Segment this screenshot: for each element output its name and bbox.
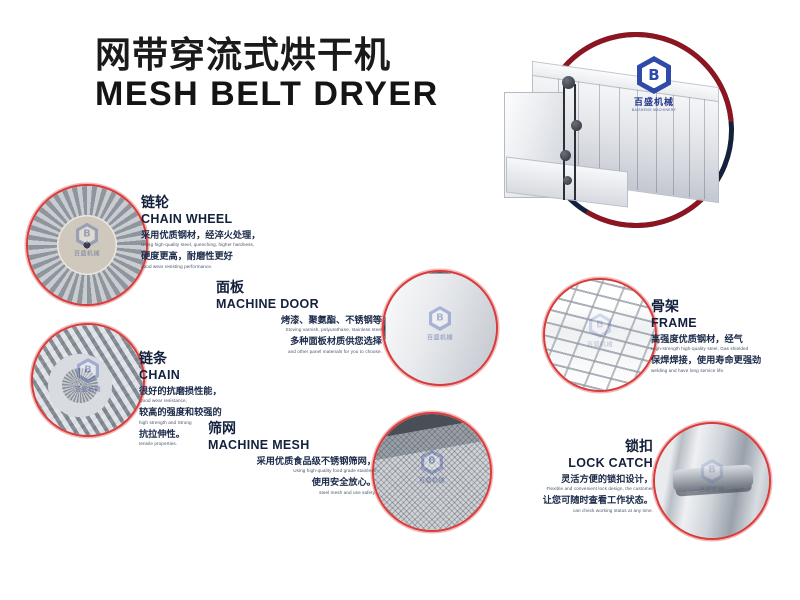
feature-title-en: CHAIN WHEEL — [141, 212, 291, 226]
feature-title-en: LOCK CATCH — [483, 456, 653, 470]
feature-line-cn-0: 采用优质钢材，经淬火处理， — [141, 230, 291, 242]
feature-line-en-0: Stoving varnish, polyurethane, stainless… — [216, 327, 382, 333]
feature-title-cn: 筛网 — [208, 422, 376, 437]
feature-line-cn-1: 使用安全放心。 — [208, 477, 376, 489]
feature-line-en-0: Flexible and convenient lock design, the… — [483, 486, 653, 492]
feature-line-en-0: Using high-quality food grade stainless — [208, 468, 376, 474]
feature-line-cn-0: 灵活方便的锁扣设计， — [483, 474, 653, 486]
lock-catch-photo: B 百盛机械 — [655, 424, 769, 538]
brand-name-cn: 百盛机械 — [617, 95, 691, 108]
feature-line-cn-0: 高强度优质钢材，经气 — [651, 334, 799, 346]
hero-machine-image: B 百盛机械 BAISHENG MACHINERY — [505, 28, 800, 233]
feature-title-cn: 锁扣 — [483, 440, 653, 455]
machine-door-text: 面板 MACHINE DOOR 烤漆、聚氨酯、不锈钢等 Stoving varn… — [216, 281, 382, 355]
frame-text: 骨架 FRAME 高强度优质钢材，经气 High-strength high-q… — [651, 300, 799, 374]
dryer-drive-belt — [559, 78, 581, 200]
feature-line-cn-1: 硬度更高，耐磨性更好 — [141, 251, 291, 263]
brand-name-en: BAISHENG MACHINERY — [617, 108, 691, 112]
feature-title-en: FRAME — [651, 316, 799, 330]
frame-photo: B 百盛机械 — [545, 280, 655, 390]
machine-mesh-text: 筛网 MACHINE MESH 采用优质食品级不锈钢筛网， Using high… — [208, 422, 376, 496]
feature-line-cn-1: 保焊焊接，使用寿命更强劲 — [651, 355, 799, 367]
feature-line-en-1: and other panel materials for you to cho… — [216, 349, 382, 355]
feature-line-cn-1: 让您可随时查看工作状态。 — [483, 495, 653, 507]
lock-catch-text: 锁扣 LOCK CATCH 灵活方便的锁扣设计， Flexible and co… — [483, 440, 653, 514]
pulley-low — [560, 150, 571, 161]
feature-title-cn: 面板 — [216, 281, 382, 296]
feature-line-cn-0: 烤漆、聚氨酯、不锈钢等 — [216, 315, 382, 327]
chain-photo: B 百盛机械 — [33, 325, 143, 435]
page-title: 网带穿流式烘干机 MESH BELT DRYER — [95, 38, 515, 113]
title-chinese: 网带穿流式烘干机 — [95, 38, 515, 74]
chain-wheel-photo: B 百盛机械 — [28, 186, 146, 304]
brand-logo: B 百盛机械 BAISHENG MACHINERY — [617, 56, 691, 108]
feature-line-cn-0: 采用优质食品级不锈钢筛网， — [208, 456, 376, 468]
machine-door-photo: B 百盛机械 — [384, 272, 496, 384]
feature-line-en-1: can check working status at any time. — [483, 508, 653, 514]
title-english: MESH BELT DRYER — [95, 77, 515, 113]
feature-line-cn-1: 较高的强度和较强的 — [139, 407, 279, 419]
feature-title-cn: 链轮 — [141, 196, 291, 211]
pulley-bottom — [563, 176, 572, 185]
feature-line-en-0: Good wear resistance, — [139, 398, 279, 404]
feature-title-cn: 骨架 — [651, 300, 799, 315]
feature-title-en: MACHINE DOOR — [216, 297, 382, 311]
feature-line-en-0: High-strength high-quality steel, Gas sh… — [651, 346, 799, 352]
feature-line-cn-1: 多种面板材质供您选择 — [216, 336, 382, 348]
hexagon-logo-icon: B — [637, 56, 671, 94]
pulley-top — [562, 76, 575, 89]
feature-line-en-1: good wear resisting performance. — [141, 264, 291, 270]
feature-line-en-1: steel mesh and use safety. — [208, 490, 376, 496]
feature-line-en-1: welding and have long service life. — [651, 368, 799, 374]
feature-title-en: CHAIN — [139, 368, 279, 382]
feature-line-en-0: Using high-quality steel, quenching, hig… — [141, 242, 291, 248]
machine-mesh-photo: B 百盛机械 — [374, 414, 490, 530]
feature-line-cn-0: 很好的抗磨损性能， — [139, 386, 279, 398]
pulley-mid — [571, 120, 582, 131]
chain-wheel-text: 链轮 CHAIN WHEEL 采用优质钢材，经淬火处理， Using high-… — [141, 196, 291, 270]
logo-letter: B — [646, 65, 662, 85]
feature-title-en: MACHINE MESH — [208, 438, 376, 452]
product-infographic-poster: 网带穿流式烘干机 MESH BELT DRYER — [0, 0, 800, 600]
